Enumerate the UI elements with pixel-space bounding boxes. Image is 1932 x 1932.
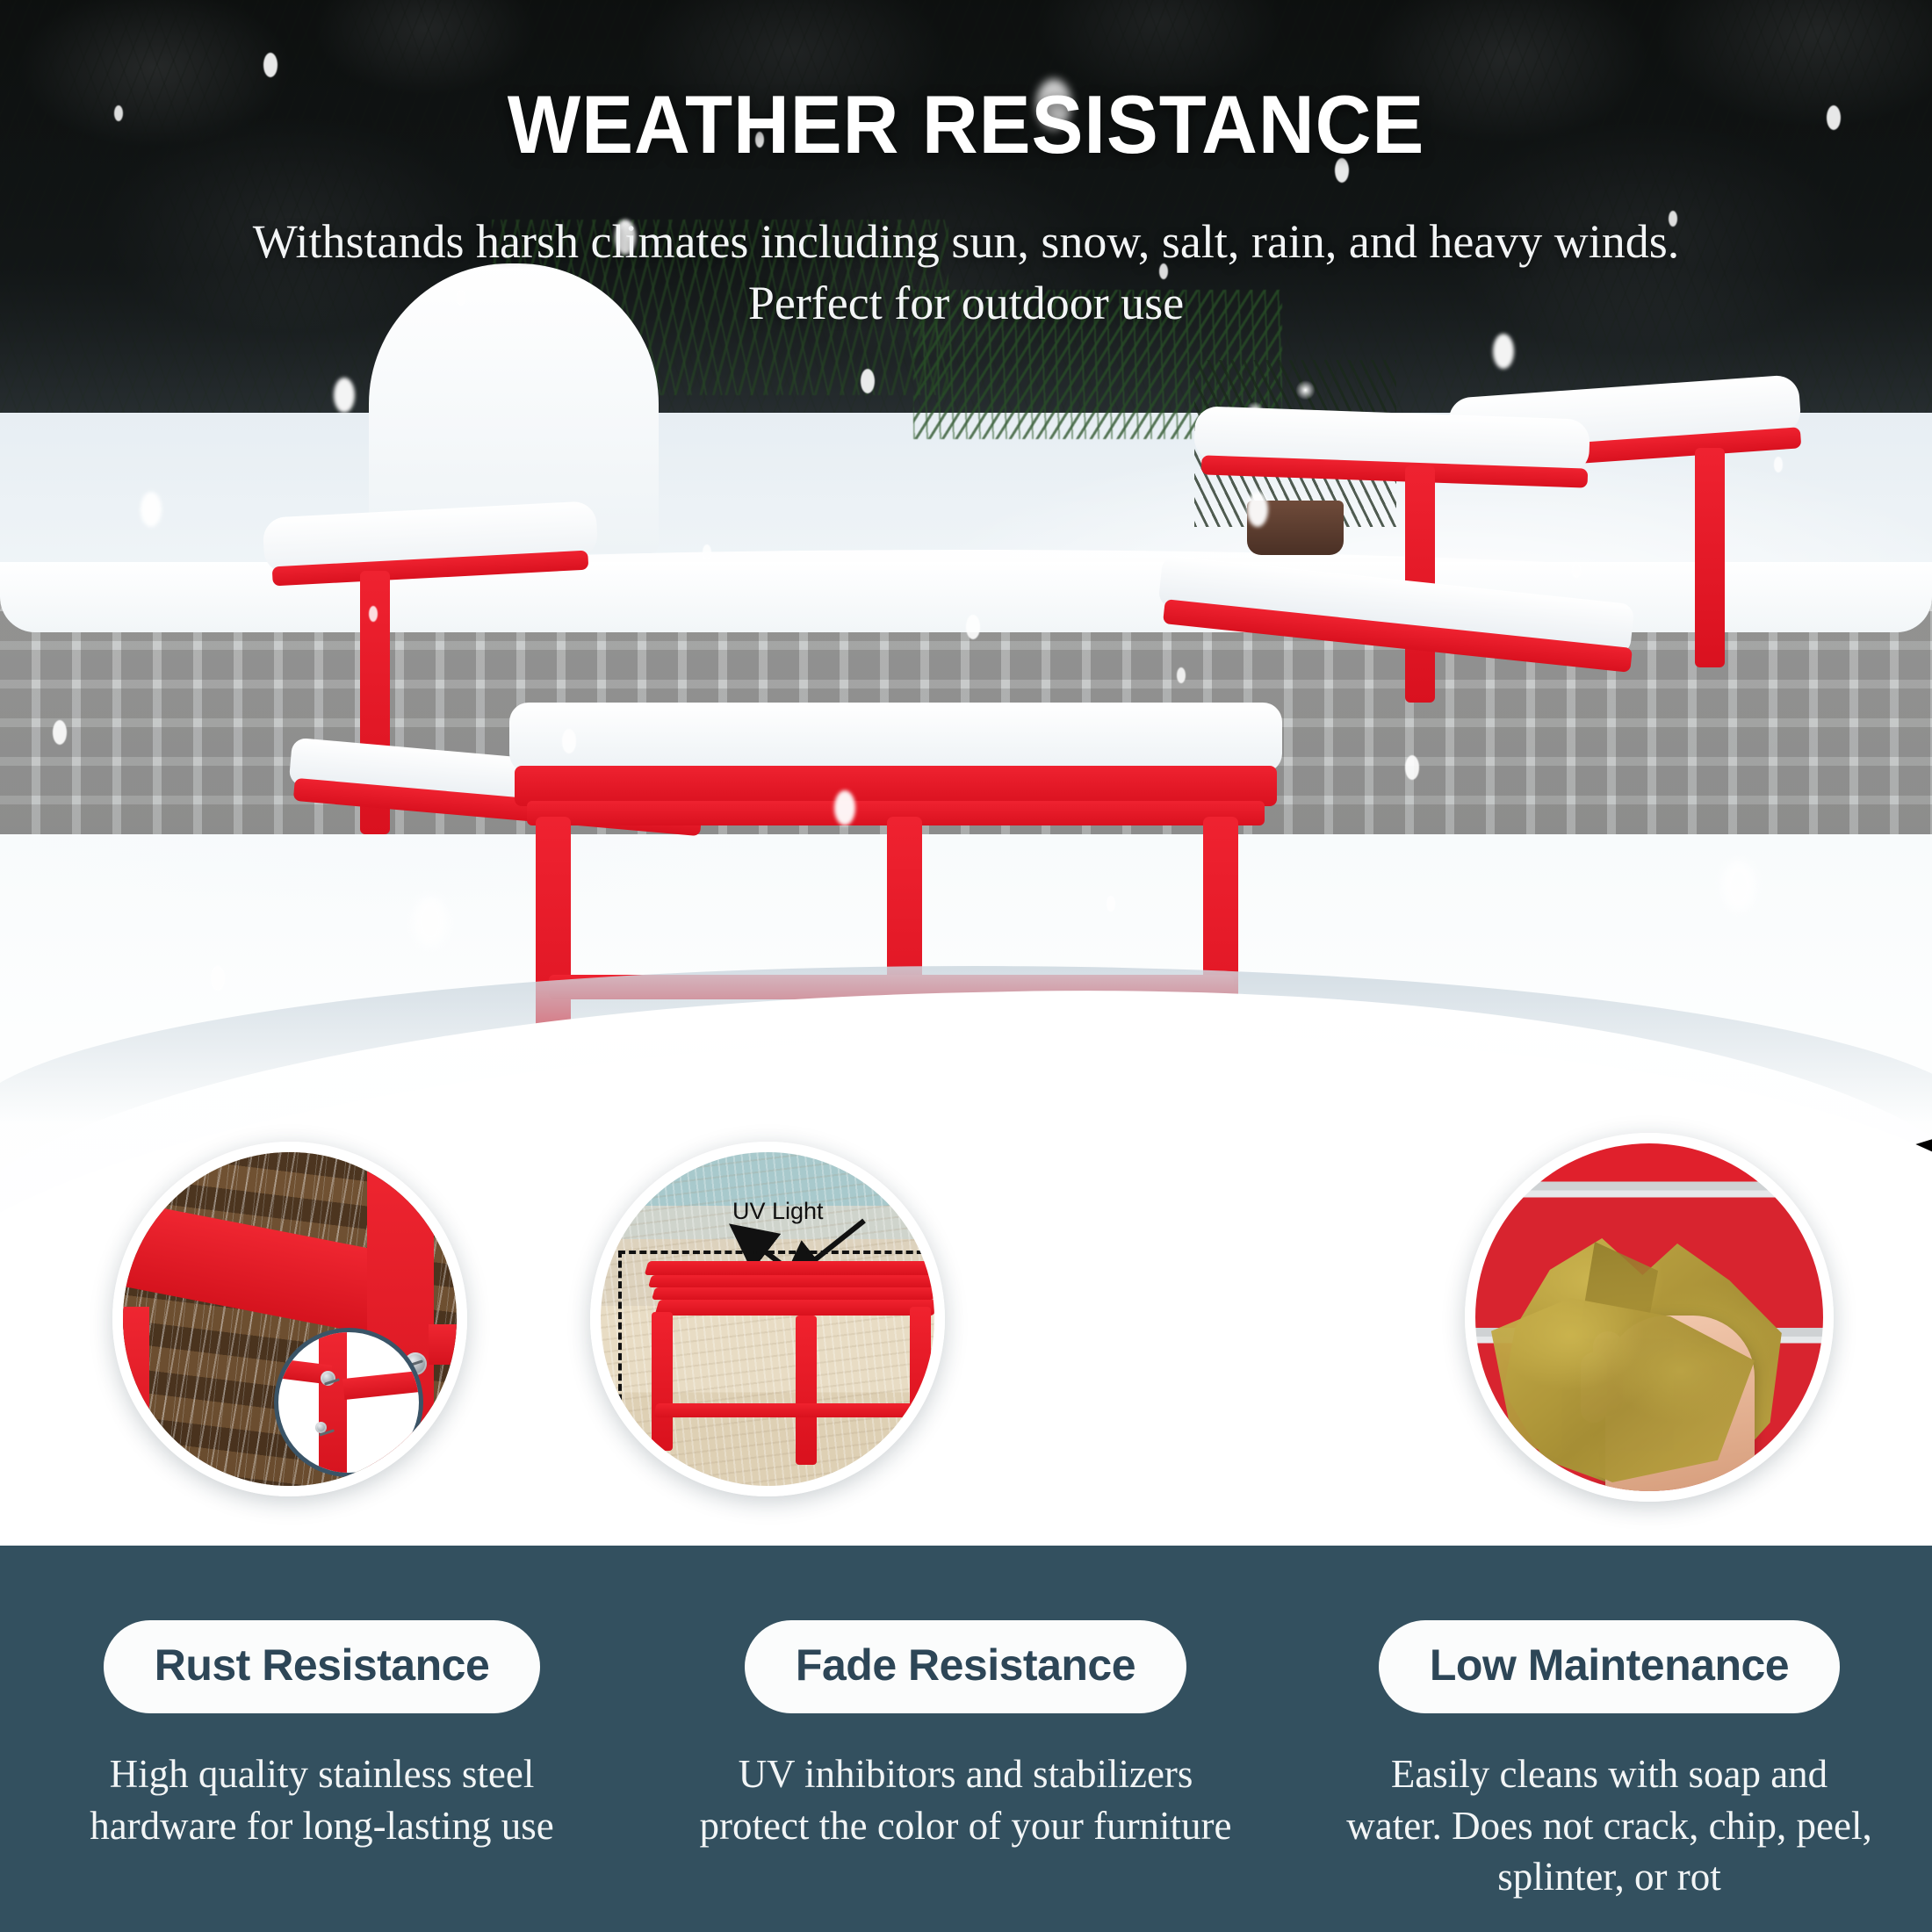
uv-light-label: UV Light [732,1198,824,1225]
low-maintenance-inset [1465,1133,1834,1502]
feature-card-list: Rust Resistance High quality stainless s… [0,1620,1932,1903]
table-leg [652,1312,673,1451]
rust-magnifier-inset [274,1328,423,1477]
rust-resistance-inset [112,1142,467,1496]
page-title: WEATHER RESISTANCE [58,77,1874,172]
table-top-slat [648,1275,938,1287]
table-leg [796,1316,817,1465]
page-subtitle: Withstands harsh climates including sun,… [246,211,1686,334]
feature-label-low-maintenance[interactable]: Low Maintenance [1379,1620,1840,1713]
table-top-snow [509,703,1282,773]
table-apron [654,1300,938,1316]
feature-card-low-maintenance: Low Maintenance Easily cleans with soap … [1287,1620,1931,1903]
table-rail [342,1370,423,1400]
hero-image: WEATHER RESISTANCE Withstands harsh clim… [0,0,1932,1546]
stainless-screw [315,1422,327,1433]
feature-label-fade-resistance[interactable]: Fade Resistance [745,1620,1186,1713]
infographic-page: WEATHER RESISTANCE Withstands harsh clim… [0,0,1932,1932]
table-rail [429,1324,467,1365]
fade-resistance-inset: UV Light [590,1142,945,1496]
chair-leg [1695,448,1725,667]
table-leg [910,1307,931,1438]
table-top-slat [645,1261,939,1275]
table-top-slat [652,1287,938,1300]
feature-card-rust-resistance: Rust Resistance High quality stainless s… [0,1620,644,1903]
feature-description-low-maintenance: Easily cleans with soap and water. Does … [1342,1748,1878,1903]
table-stretcher [654,1403,936,1417]
feature-card-fade-resistance: Fade Resistance UV inhibitors and stabil… [644,1620,1287,1903]
stainless-screw [321,1371,335,1386]
feature-description-fade-resistance: UV inhibitors and stabilizers protect th… [698,1748,1234,1851]
adirondack-chair-right [1194,378,1827,869]
feature-label-rust-resistance[interactable]: Rust Resistance [104,1620,541,1713]
table-leg [319,1332,347,1477]
feature-description-rust-resistance: High quality stainless steel hardware fo… [54,1748,590,1851]
